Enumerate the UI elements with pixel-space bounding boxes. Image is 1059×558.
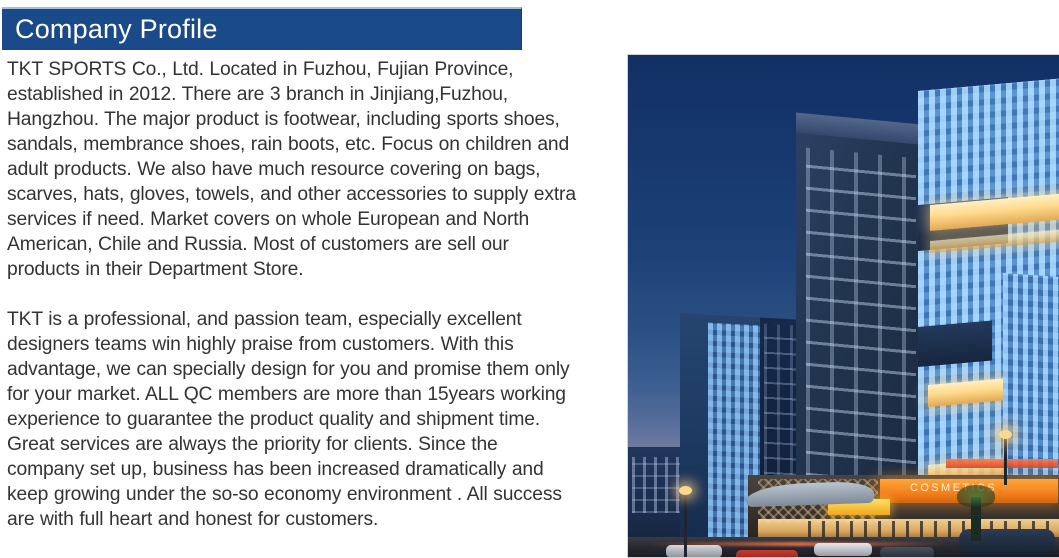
photo-canvas: COSMETICS: [628, 55, 1059, 557]
upper-red-signboard: [946, 459, 1058, 468]
street-lamp-right: [1004, 435, 1007, 485]
left-content-column: Company Profile TKT SPORTS Co., Ltd. Loc…: [0, 0, 600, 558]
palm-tree: [971, 497, 981, 541]
car-white-left: [666, 545, 722, 557]
profile-paragraph-1: TKT SPORTS Co., Ltd. Located in Fuzhou, …: [7, 57, 579, 282]
company-building-photo: COSMETICS: [627, 54, 1059, 558]
slide-root: Company Profile TKT SPORTS Co., Ltd. Loc…: [0, 0, 1059, 558]
right-edge-tower: [1003, 273, 1059, 507]
page-title: Company Profile: [2, 16, 218, 43]
profile-paragraph-2: TKT is a professional, and passion team,…: [7, 307, 579, 532]
car-dark: [880, 547, 934, 557]
tower-setback-notch-lower: [918, 321, 992, 367]
main-tower-dark-facade: [796, 133, 924, 507]
street-lamp-left: [684, 491, 687, 557]
section-title-bar: Company Profile: [2, 7, 522, 50]
car-red: [736, 550, 798, 557]
car-silver: [814, 543, 872, 556]
company-profile-text: TKT SPORTS Co., Ltd. Located in Fuzhou, …: [7, 57, 579, 532]
